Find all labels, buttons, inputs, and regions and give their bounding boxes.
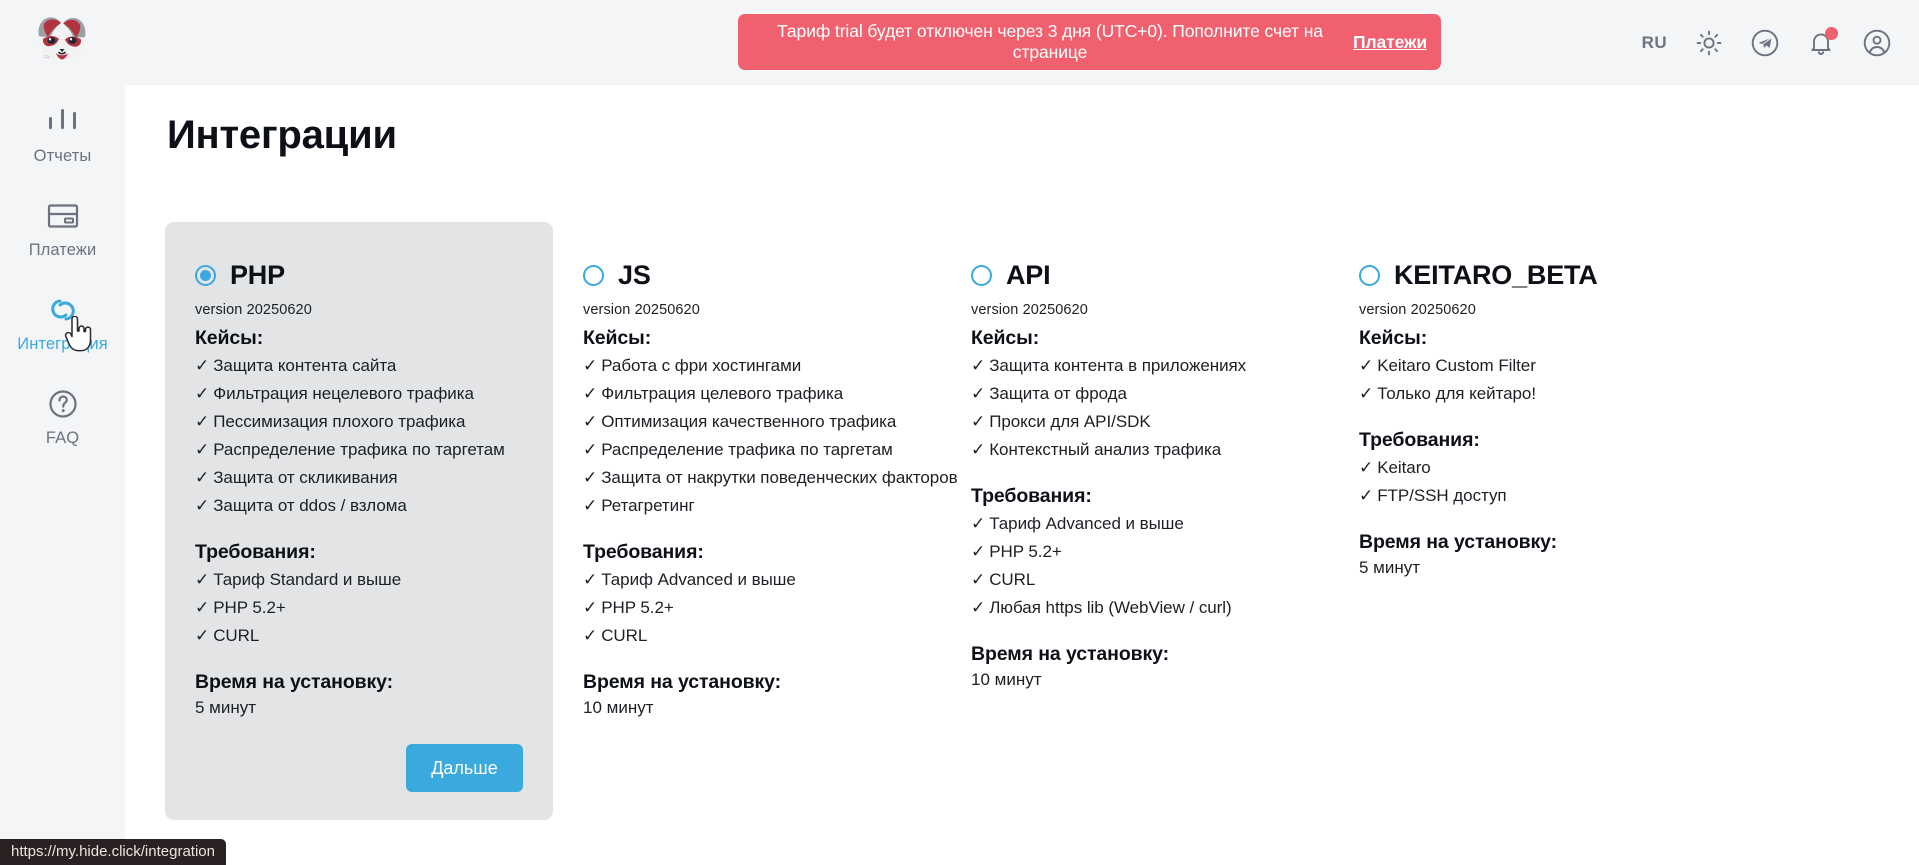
install-time-value: 5 минут (1359, 558, 1687, 578)
list-item: ✓Только для кейтаро! (1359, 382, 1687, 406)
check-icon: ✓ (195, 384, 209, 403)
list-item: ✓Защита от скликивания (195, 466, 523, 490)
bar-chart-icon (45, 102, 81, 142)
list-item: ✓Оптимизация качественного трафика (583, 410, 911, 434)
card-title: JS (618, 260, 651, 291)
radio-dot (200, 270, 211, 281)
question-circle-icon (47, 384, 79, 424)
list-item: ✓Фильтрация целевого трафика (583, 382, 911, 406)
install-time-heading: Время на установку: (971, 643, 1299, 666)
list-item: ✓Защита контента сайта (195, 354, 523, 378)
check-icon: ✓ (583, 356, 597, 375)
check-icon: ✓ (583, 412, 597, 431)
card-header: API (971, 260, 1299, 291)
check-icon: ✓ (195, 570, 209, 589)
sidebar-item-label: Отчеты (34, 147, 92, 166)
card-title: PHP (230, 260, 285, 291)
check-icon: ✓ (583, 626, 597, 645)
radio-unselected-icon[interactable] (971, 265, 992, 286)
raccoon-logo[interactable] (30, 12, 96, 72)
topbar: Тариф trial будет отключен через 3 дня (… (125, 0, 1919, 85)
install-time-value: 10 минут (971, 670, 1299, 690)
list-item: ✓Прокси для API/SDK (971, 410, 1299, 434)
sidebar-item-integration[interactable]: Интеграция (8, 290, 118, 354)
check-icon: ✓ (195, 412, 209, 431)
check-icon: ✓ (971, 384, 985, 403)
radio-unselected-icon[interactable] (1359, 265, 1380, 286)
requirements-heading: Требования: (195, 541, 523, 564)
requirements-list: ✓Keitaro ✓FTP/SSH доступ (1359, 456, 1687, 508)
requirements-heading: Требования: (1359, 429, 1687, 452)
radio-selected-icon[interactable] (195, 265, 216, 286)
check-icon: ✓ (1359, 384, 1373, 403)
list-item: ✓PHP 5.2+ (195, 596, 523, 620)
cases-list: ✓Keitaro Custom Filter ✓Только для кейта… (1359, 354, 1687, 406)
check-icon: ✓ (583, 570, 597, 589)
sidebar-item-payments[interactable]: Платежи (8, 196, 118, 260)
list-item: ✓Keitaro Custom Filter (1359, 354, 1687, 378)
list-item: ✓Пессимизация плохого трафика (195, 410, 523, 434)
install-time-heading: Время на установку: (583, 671, 911, 694)
cases-list: ✓Защита контента сайта ✓Фильтрация нецел… (195, 354, 523, 518)
topbar-actions: RU (1642, 29, 1891, 57)
integration-card-php[interactable]: PHP version 20250620 Кейсы: ✓Защита конт… (165, 222, 553, 820)
main-content: Интеграции PHP version 20250620 Кейсы: ✓… (125, 85, 1919, 865)
list-item: ✓FTP/SSH доступ (1359, 484, 1687, 508)
cases-heading: Кейсы: (583, 327, 911, 350)
check-icon: ✓ (583, 468, 597, 487)
list-item: ✓Защита от ddos / взлома (195, 494, 523, 518)
cases-list: ✓Работа с фри хостингами ✓Фильтрация цел… (583, 354, 911, 518)
install-time-value: 10 минут (583, 698, 911, 718)
integration-card-api[interactable]: API version 20250620 Кейсы: ✓Защита конт… (941, 222, 1329, 820)
requirements-list: ✓Тариф Advanced и выше ✓PHP 5.2+ ✓CURL ✓… (971, 512, 1299, 620)
list-item: ✓Распределение трафика по таргетам (195, 438, 523, 462)
list-item: ✓Защита от накрутки поведенческих фактор… (583, 466, 911, 490)
next-button[interactable]: Дальше (406, 744, 523, 792)
list-item: ✓CURL (583, 624, 911, 648)
sidebar-item-label: Интеграция (17, 335, 108, 354)
card-header: KEITARO_BETA (1359, 260, 1687, 291)
user-account-icon[interactable] (1863, 29, 1891, 57)
radio-unselected-icon[interactable] (583, 265, 604, 286)
card-title: API (1006, 260, 1050, 291)
list-item: ✓Тариф Advanced и выше (971, 512, 1299, 536)
list-item: ✓CURL (971, 568, 1299, 592)
check-icon: ✓ (583, 384, 597, 403)
list-item: ✓Тариф Advanced и выше (583, 568, 911, 592)
check-icon: ✓ (1359, 458, 1373, 477)
alert-payments-link[interactable]: Платежи (1353, 32, 1427, 53)
card-version: version 20250620 (195, 302, 523, 318)
cases-heading: Кейсы: (195, 327, 523, 350)
card-header: JS (583, 260, 911, 291)
sun-icon[interactable] (1695, 29, 1723, 57)
card-version: version 20250620 (971, 302, 1299, 318)
check-icon: ✓ (971, 356, 985, 375)
page-title: Интеграции (167, 113, 397, 158)
install-time-value: 5 минут (195, 698, 523, 718)
sidebar: Отчеты Платежи Интеграция (0, 0, 125, 865)
cases-heading: Кейсы: (1359, 327, 1687, 350)
list-item: ✓Распределение трафика по таргетам (583, 438, 911, 462)
sidebar-item-faq[interactable]: FAQ (8, 384, 118, 448)
requirements-list: ✓Тариф Standard и выше ✓PHP 5.2+ ✓CURL (195, 568, 523, 648)
check-icon: ✓ (195, 626, 209, 645)
check-icon: ✓ (583, 440, 597, 459)
check-icon: ✓ (195, 356, 209, 375)
list-item: ✓Работа с фри хостингами (583, 354, 911, 378)
list-item: ✓Защита контента в приложениях (971, 354, 1299, 378)
check-icon: ✓ (195, 496, 209, 515)
sidebar-item-label: FAQ (46, 429, 79, 448)
sidebar-item-label: Платежи (29, 241, 97, 260)
card-version: version 20250620 (1359, 302, 1687, 318)
status-bar-url: https://my.hide.click/integration (0, 839, 226, 865)
check-icon: ✓ (971, 598, 985, 617)
bell-icon[interactable] (1807, 29, 1835, 57)
list-item: ✓Защита от фрода (971, 382, 1299, 406)
integration-cards: PHP version 20250620 Кейсы: ✓Защита конт… (165, 222, 1919, 820)
list-item: ✓PHP 5.2+ (971, 540, 1299, 564)
app-root: Отчеты Платежи Интеграция (0, 0, 1919, 865)
check-icon: ✓ (1359, 486, 1373, 505)
integration-card-js[interactable]: JS version 20250620 Кейсы: ✓Работа с фри… (553, 222, 941, 820)
language-switcher[interactable]: RU (1642, 33, 1667, 53)
check-icon: ✓ (583, 598, 597, 617)
check-icon: ✓ (971, 412, 985, 431)
list-item: ✓Keitaro (1359, 456, 1687, 480)
notification-badge (1825, 27, 1838, 40)
telegram-icon[interactable] (1751, 29, 1779, 57)
sidebar-item-reports[interactable]: Отчеты (8, 102, 118, 166)
integration-card-keitaro-beta[interactable]: KEITARO_BETA version 20250620 Кейсы: ✓Ke… (1329, 222, 1717, 820)
list-item: ✓CURL (195, 624, 523, 648)
requirements-heading: Требования: (971, 485, 1299, 508)
card-header: PHP (195, 260, 523, 291)
list-item: ✓PHP 5.2+ (583, 596, 911, 620)
check-icon: ✓ (971, 570, 985, 589)
cases-heading: Кейсы: (971, 327, 1299, 350)
link-icon (46, 290, 80, 330)
check-icon: ✓ (195, 440, 209, 459)
check-icon: ✓ (971, 542, 985, 561)
alert-text: Тариф trial будет отключен через 3 дня (… (752, 21, 1348, 63)
install-time-heading: Время на установку: (1359, 531, 1687, 554)
trial-alert-banner: Тариф trial будет отключен через 3 дня (… (738, 14, 1441, 70)
list-item: ✓Фильтрация нецелевого трафика (195, 382, 523, 406)
cases-list: ✓Защита контента в приложениях ✓Защита о… (971, 354, 1299, 462)
requirements-list: ✓Тариф Advanced и выше ✓PHP 5.2+ ✓CURL (583, 568, 911, 648)
card-version: version 20250620 (583, 302, 911, 318)
install-time-heading: Время на установку: (195, 671, 523, 694)
check-icon: ✓ (195, 468, 209, 487)
card-title: KEITARO_BETA (1394, 260, 1598, 291)
credit-card-icon (46, 196, 80, 236)
requirements-heading: Требования: (583, 541, 911, 564)
check-icon: ✓ (583, 496, 597, 515)
list-item: ✓Любая https lib (WebView / curl) (971, 596, 1299, 620)
check-icon: ✓ (195, 598, 209, 617)
check-icon: ✓ (1359, 356, 1373, 375)
list-item: ✓Тариф Standard и выше (195, 568, 523, 592)
list-item: ✓Ретагретинг (583, 494, 911, 518)
list-item: ✓Контекстный анализ трафика (971, 438, 1299, 462)
check-icon: ✓ (971, 440, 985, 459)
check-icon: ✓ (971, 514, 985, 533)
